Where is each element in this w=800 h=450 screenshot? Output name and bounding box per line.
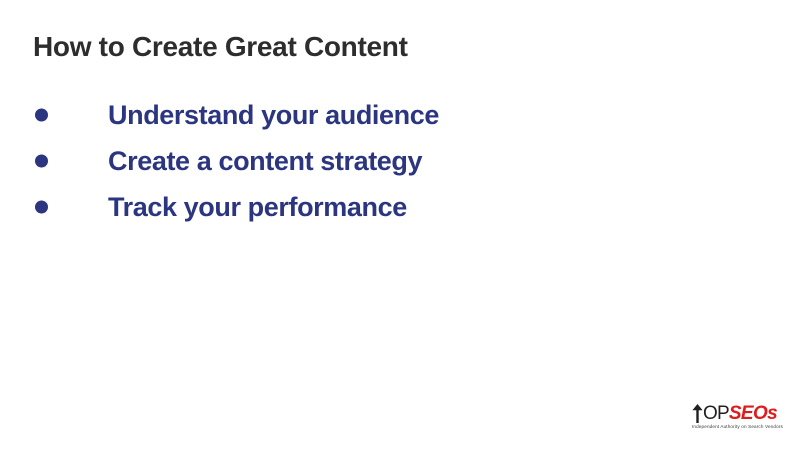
list-item: Track your performance: [33, 184, 733, 230]
bullet-dot-icon: [35, 201, 48, 214]
bullet-dot-icon: [35, 109, 48, 122]
page-title: How to Create Great Content: [33, 30, 408, 64]
bullet-dot-icon: [35, 155, 48, 168]
list-item: Understand your audience: [33, 92, 733, 138]
up-arrow-icon: [692, 404, 703, 423]
brand-logo: OP SEOs Independent Authority on Search …: [692, 403, 788, 435]
logo-tagline: Independent Authority on Search Vendors: [692, 424, 788, 430]
logo-text-seos: SEOs: [729, 404, 777, 423]
list-item: Create a content strategy: [33, 138, 733, 184]
bullet-item-label: Create a content strategy: [108, 145, 422, 177]
bullet-item-label: Track your performance: [108, 191, 407, 223]
bullet-list: Understand your audience Create a conten…: [33, 92, 733, 230]
logo-wordmark: OP SEOs: [692, 403, 788, 423]
logo-text-op: OP: [703, 404, 729, 423]
bullet-item-label: Understand your audience: [108, 99, 439, 131]
slide-canvas: How to Create Great Content Understand y…: [0, 0, 800, 450]
